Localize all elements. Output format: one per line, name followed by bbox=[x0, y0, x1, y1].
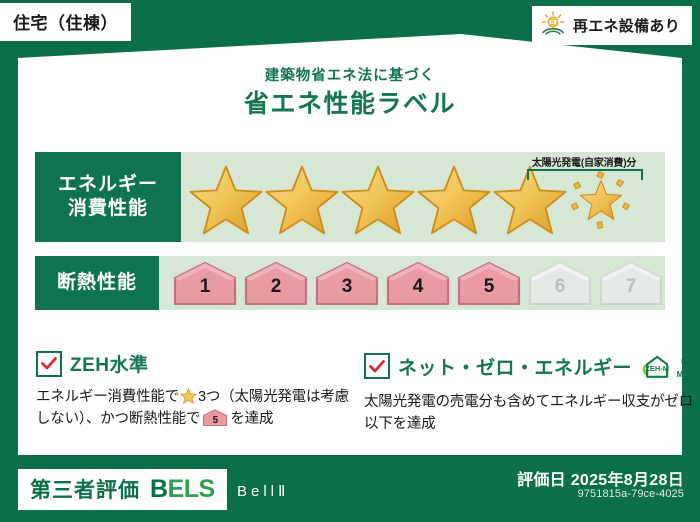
star-icon bbox=[265, 164, 339, 236]
bels-letter-b: B bbox=[150, 475, 168, 503]
grade-house-6: 6 bbox=[526, 261, 594, 305]
zeh-text-part3: を達成 bbox=[230, 411, 273, 427]
grade-house-1-number: 1 bbox=[171, 276, 239, 298]
nzeb-title-row: ネット・ゼロ・エネルギー ZEH-M 「ZEH-M」 bbox=[364, 350, 700, 382]
grade-house-1: 1 bbox=[171, 261, 239, 305]
inline-grade-number: 5 bbox=[202, 413, 228, 429]
zeh-title-row: ZEH水準 bbox=[36, 350, 352, 377]
star-icon bbox=[417, 164, 491, 236]
certificate-id: 9751815a-79ce-4025 bbox=[578, 488, 684, 500]
zeh-text-part1: エネルギー消費性能で bbox=[36, 389, 179, 405]
metrics-section: エネルギー 消費性能 太陽光発電(自家消費)分 bbox=[35, 152, 665, 324]
grade-house-4: 4 bbox=[384, 261, 452, 305]
insulation-label: 断熱性能 bbox=[57, 271, 137, 295]
grade-house-3-number: 3 bbox=[313, 276, 381, 298]
energy-performance-label: エネルギー 消費性能 bbox=[35, 152, 181, 242]
checkmark-icon bbox=[364, 353, 390, 379]
zeh-m-caption: 「ZEH-M」 bbox=[677, 358, 700, 382]
zeh-title: ZEH水準 bbox=[70, 350, 149, 377]
energy-star-rating: 太陽光発電(自家消費)分 bbox=[181, 152, 665, 242]
star-icon bbox=[189, 164, 263, 236]
grade-house-7-number: 7 bbox=[597, 276, 665, 298]
category-badge: 住宅（住棟） bbox=[0, 3, 131, 41]
grade-house-2: 2 bbox=[242, 261, 310, 305]
energy-performance-row: エネルギー 消費性能 太陽光発電(自家消費)分 bbox=[35, 152, 665, 242]
zeh-achievement-block: ZEH水準 エネルギー消費性能で3つ（太陽光発電は考慮しない）、かつ断熱性能で5… bbox=[0, 350, 352, 436]
energy-label-line2: 消費性能 bbox=[68, 197, 148, 221]
nzeb-description: 太陽光発電の売電分も含めてエネルギー収支がゼロ以下を達成 bbox=[364, 391, 700, 436]
achievements-section: ZEH水準 エネルギー消費性能で3つ（太陽光発電は考慮しない）、かつ断熱性能で5… bbox=[0, 350, 700, 436]
bell2-label: BellⅡ bbox=[237, 482, 289, 500]
category-badge-label: 住宅（住棟） bbox=[13, 14, 118, 33]
bels-letters-els: ELS bbox=[168, 475, 215, 503]
grade-house-5-number: 5 bbox=[455, 276, 523, 298]
bels-wordmark: BELS bbox=[150, 475, 215, 504]
energy-performance-label: 住宅（住棟） 再エネ設備あり 建築物省エネ法に基づく 省エネ性能ラベル bbox=[0, 0, 700, 522]
grade-house-4-number: 4 bbox=[384, 276, 452, 298]
grade-houses-container: 1 2 3 bbox=[171, 261, 665, 305]
solar-annotation-bracket bbox=[527, 169, 643, 180]
energy-label-line1: エネルギー bbox=[58, 173, 158, 197]
star-icon bbox=[341, 164, 415, 236]
checkmark-icon bbox=[36, 351, 62, 377]
grade-house-3: 3 bbox=[313, 261, 381, 305]
grade-house-6-number: 6 bbox=[526, 276, 594, 298]
bels-logo-box: 第三者評価 BELS bbox=[18, 469, 227, 510]
star-icon bbox=[180, 388, 197, 404]
footer-bar: 第三者評価 BELS BellⅡ 評価日 2025年8月28日 9751815a… bbox=[0, 455, 700, 522]
grade-house-2-number: 2 bbox=[242, 276, 310, 298]
insulation-performance-label: 断熱性能 bbox=[35, 256, 159, 310]
label-subtitle: 建築物省エネ法に基づく bbox=[0, 64, 700, 85]
solar-sun-icon bbox=[540, 11, 566, 40]
insulation-grade-scale: 1 2 3 bbox=[159, 256, 665, 310]
third-party-evaluation-label: 第三者評価 bbox=[30, 474, 140, 504]
renewable-badge-label: 再エネ設備あり bbox=[573, 15, 680, 36]
zeh-m-logo-text: ZEH-M bbox=[645, 364, 669, 373]
nzeb-achievement-block: ネット・ゼロ・エネルギー ZEH-M 「ZEH-M」 太陽光発電の売電分も含めて… bbox=[352, 350, 700, 436]
zeh-m-house-icon: ZEH-M bbox=[638, 350, 675, 382]
zeh-m-logo: ZEH-M 「ZEH-M」 bbox=[638, 350, 700, 382]
grade-house-7: 7 bbox=[597, 261, 665, 305]
nzeb-title: ネット・ゼロ・エネルギー bbox=[398, 353, 632, 380]
solar-annotation-text: 太陽光発電(自家消費)分 bbox=[511, 154, 657, 169]
grade-house-5: 5 bbox=[455, 261, 523, 305]
inline-grade-badge: 5 bbox=[202, 409, 228, 426]
insulation-performance-row: 断熱性能 1 bbox=[35, 256, 665, 310]
zeh-description: エネルギー消費性能で3つ（太陽光発電は考慮しない）、かつ断熱性能で5を達成 bbox=[36, 386, 352, 431]
page-title: 省エネ性能ラベル bbox=[0, 84, 700, 120]
evaluation-date: 評価日 2025年8月28日 bbox=[517, 466, 684, 490]
renewable-equipment-badge: 再エネ設備あり bbox=[532, 6, 692, 45]
